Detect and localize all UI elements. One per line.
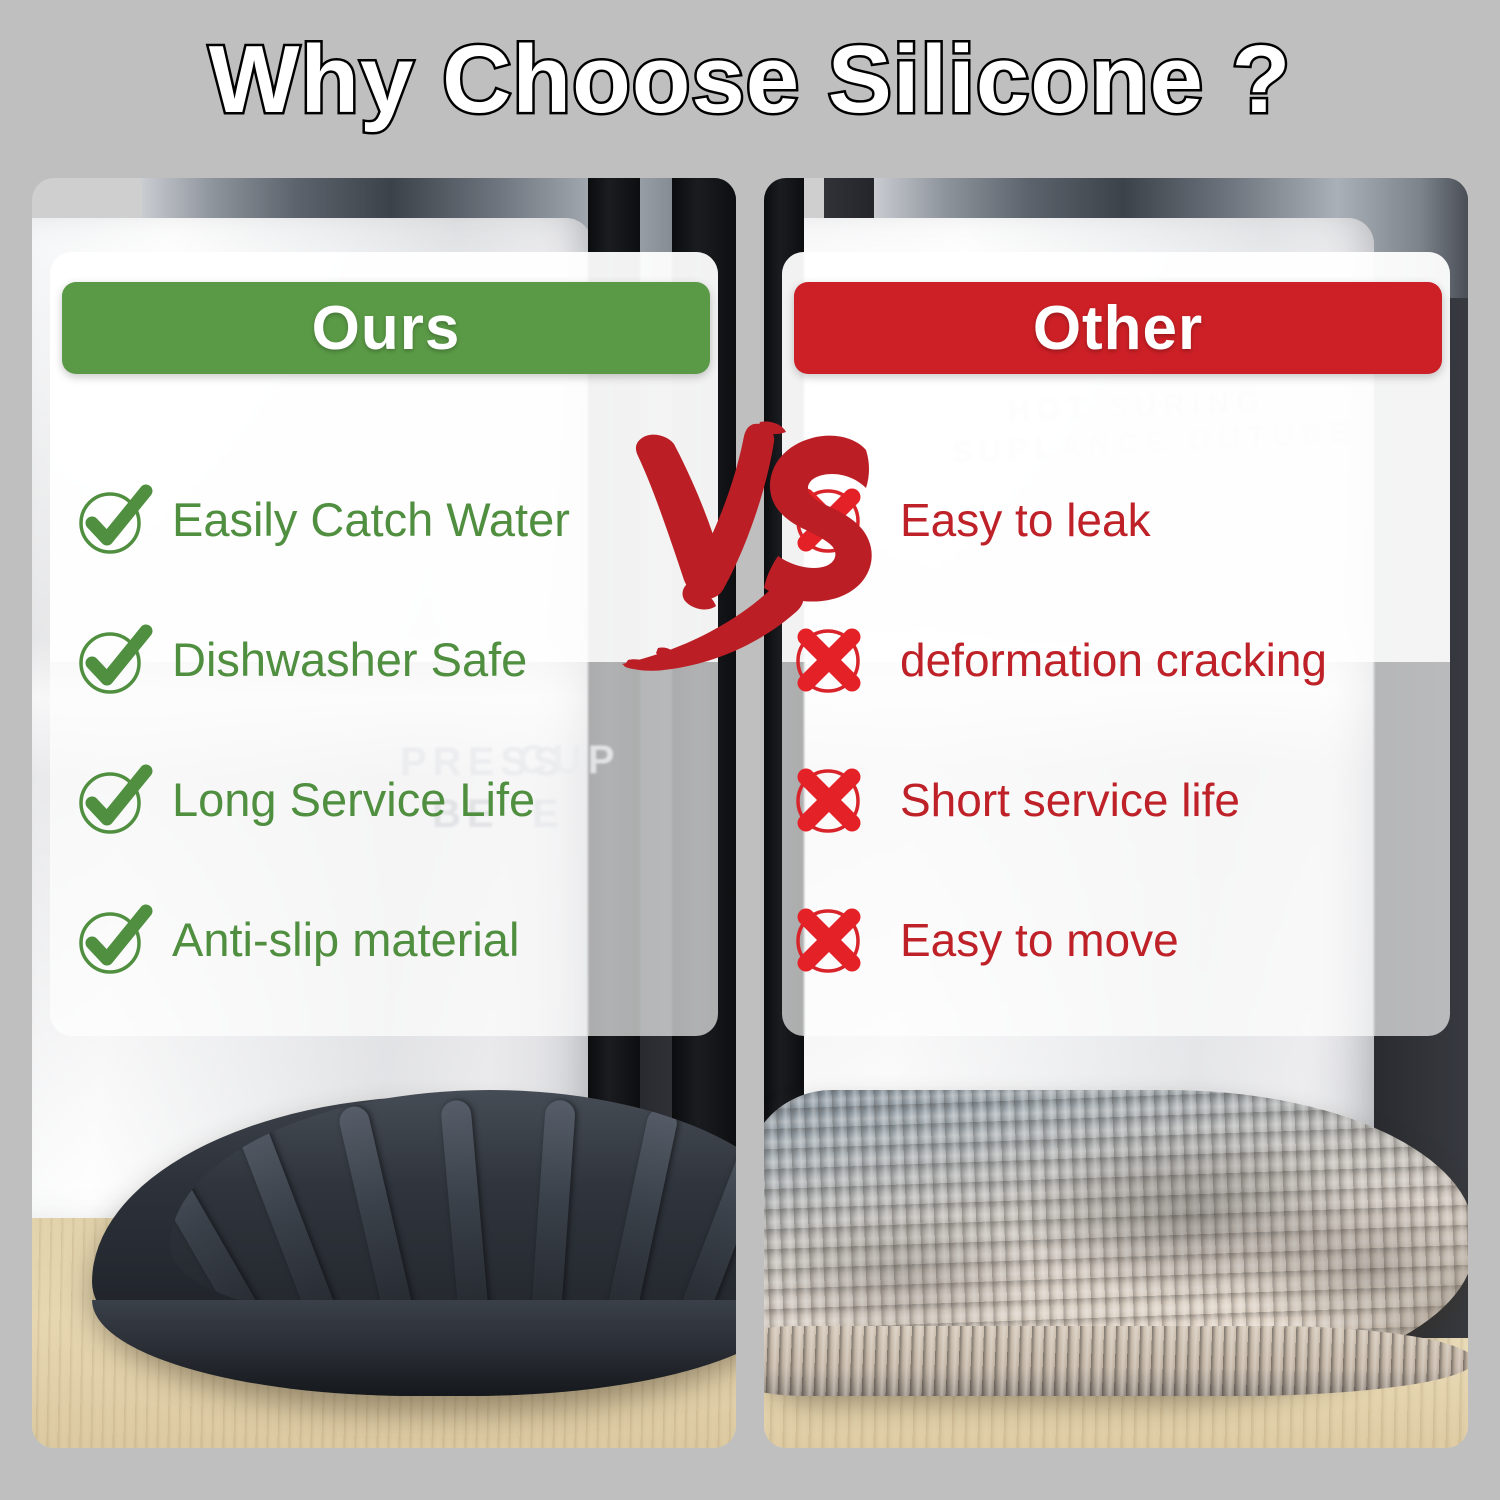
tray-rib bbox=[670, 1118, 736, 1328]
feature-item: Dishwasher Safe bbox=[76, 590, 716, 730]
check-circle-icon bbox=[76, 903, 150, 977]
feature-item: Short service life bbox=[792, 730, 1432, 870]
x-circle-icon bbox=[792, 903, 866, 977]
comparison-panel-other: HOT SURING SUPLANCE OUTUBE Other Easy to bbox=[764, 178, 1468, 1448]
feature-label: Short service life bbox=[900, 776, 1240, 824]
feature-item: Easy to leak bbox=[792, 450, 1432, 590]
tray-rib bbox=[530, 1099, 576, 1328]
feature-label: Anti-slip material bbox=[172, 915, 519, 964]
feature-item: Easily Catch Water bbox=[76, 450, 716, 590]
check-circle-icon bbox=[76, 763, 150, 837]
dirty-cloth-mat bbox=[764, 1090, 1468, 1390]
page-header: Why Choose Silicone ? bbox=[0, 0, 1500, 160]
feature-item: deformation cracking bbox=[792, 590, 1432, 730]
badge-other: Other bbox=[794, 282, 1442, 374]
feature-item: Anti-slip material bbox=[76, 870, 716, 1010]
feature-label: Long Service Life bbox=[172, 775, 535, 824]
feature-item: Long Service Life bbox=[76, 730, 716, 870]
badge-ours-label: Ours bbox=[312, 293, 461, 364]
tray-rib-area bbox=[170, 1090, 736, 1328]
badge-other-label: Other bbox=[1033, 293, 1203, 364]
feature-label: Easily Catch Water bbox=[172, 495, 570, 544]
feature-label: Dishwasher Safe bbox=[172, 635, 527, 684]
x-circle-icon bbox=[792, 483, 866, 557]
feature-list-ours: Easily Catch Water Dishwasher Safe bbox=[76, 450, 716, 1010]
comparison-panels: PRESS BE CUP E Ours bbox=[32, 178, 1468, 1448]
feature-label: deformation cracking bbox=[900, 636, 1327, 684]
check-circle-icon bbox=[76, 483, 150, 557]
feature-list-other: Easy to leak deformation cracking bbox=[792, 450, 1432, 1010]
tray-rib bbox=[602, 1105, 679, 1328]
check-circle-icon bbox=[76, 623, 150, 697]
comparison-panel-ours: PRESS BE CUP E Ours bbox=[32, 178, 736, 1448]
feature-label: Easy to leak bbox=[900, 496, 1151, 544]
feature-item: Easy to move bbox=[792, 870, 1432, 1010]
x-circle-icon bbox=[792, 763, 866, 837]
x-circle-icon bbox=[792, 623, 866, 697]
badge-ours: Ours bbox=[62, 282, 710, 374]
mat-front-edge bbox=[764, 1326, 1468, 1396]
feature-label: Easy to move bbox=[900, 916, 1179, 964]
tray-rib bbox=[440, 1099, 490, 1328]
tray-rib bbox=[337, 1104, 418, 1328]
page-title: Why Choose Silicone ? bbox=[209, 25, 1291, 135]
